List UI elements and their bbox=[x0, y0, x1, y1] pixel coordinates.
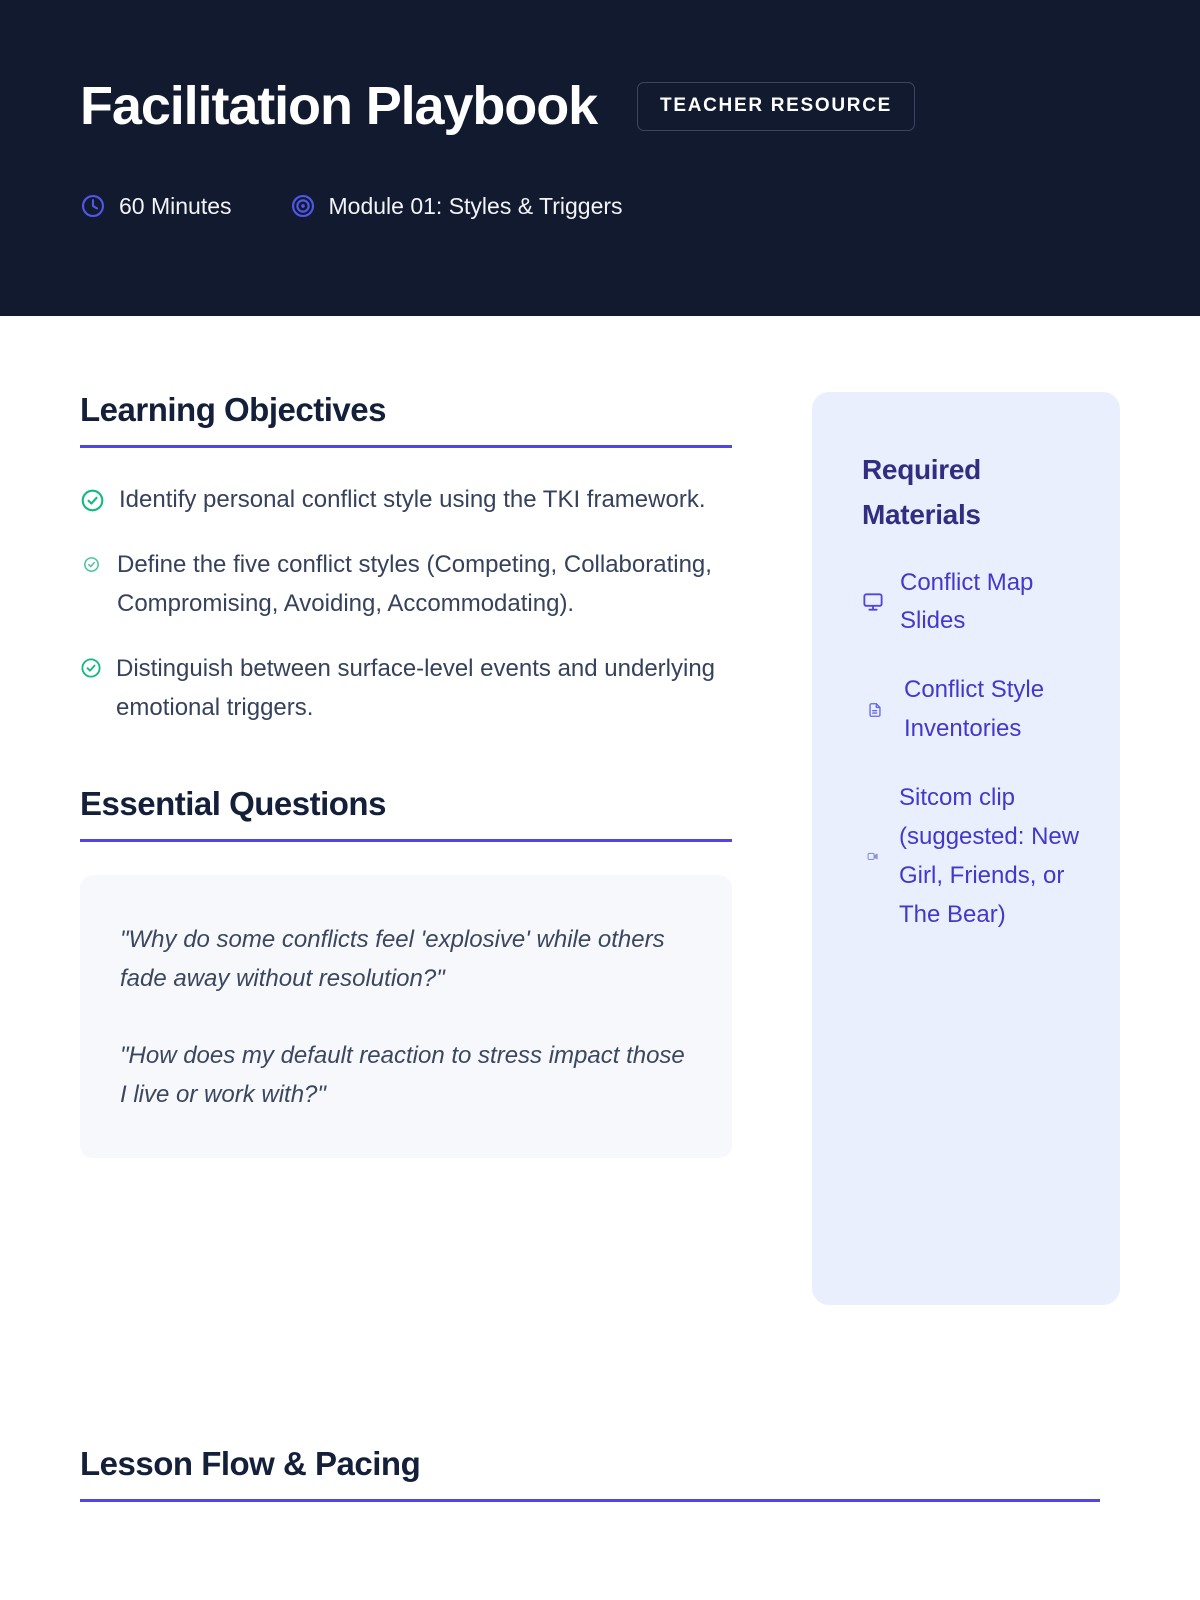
target-icon bbox=[290, 193, 316, 219]
question-quote: "How does my default reaction to stress … bbox=[120, 1037, 692, 1115]
meta-item-module: Module 01: Styles & Triggers bbox=[290, 193, 623, 220]
essential-questions-section: Essential Questions "Why do some conflic… bbox=[80, 786, 732, 1159]
header-meta-row: 60 Minutes Module 01: Styles & Triggers bbox=[80, 193, 1120, 220]
check-circle-icon bbox=[80, 488, 105, 513]
check-circle-icon bbox=[80, 657, 102, 679]
duration-label: 60 Minutes bbox=[119, 193, 232, 220]
page-header: Facilitation Playbook TEACHER RESOURCE 6… bbox=[0, 0, 1200, 316]
list-item: Conflict Style Inventories bbox=[862, 671, 1088, 749]
monitor-icon bbox=[862, 591, 884, 613]
list-item: Sitcom clip (suggested: New Girl, Friend… bbox=[862, 779, 1088, 935]
required-materials-heading: Required Materials bbox=[862, 448, 1088, 538]
objectives-list: Identify personal conflict style using t… bbox=[80, 481, 732, 727]
materials-list: Conflict Map Slides Conflict Style Inven… bbox=[862, 564, 1088, 935]
section-divider bbox=[80, 445, 732, 448]
clock-icon bbox=[80, 193, 106, 219]
objective-text: Identify personal conflict style using t… bbox=[119, 481, 706, 520]
learning-objectives-section: Learning Objectives Identify personal co… bbox=[80, 392, 732, 728]
document-icon bbox=[867, 702, 883, 718]
lesson-flow-heading: Lesson Flow & Pacing bbox=[80, 1446, 1100, 1482]
section-divider bbox=[80, 1499, 1100, 1502]
video-clip-icon bbox=[867, 851, 878, 862]
objective-text: Define the five conflict styles (Competi… bbox=[117, 546, 732, 624]
question-quote: "Why do some conflicts feel 'explosive' … bbox=[120, 921, 692, 999]
objective-text: Distinguish between surface-level events… bbox=[116, 650, 732, 728]
facilitation-playbook-page: Facilitation Playbook TEACHER RESOURCE 6… bbox=[0, 0, 1200, 1600]
essential-questions-card: "Why do some conflicts feel 'explosive' … bbox=[80, 875, 732, 1159]
meta-item-duration: 60 Minutes bbox=[80, 193, 232, 220]
check-circle-icon bbox=[83, 556, 100, 573]
material-label: Sitcom clip (suggested: New Girl, Friend… bbox=[899, 779, 1088, 935]
section-divider bbox=[80, 839, 732, 842]
page-title: Facilitation Playbook bbox=[80, 78, 597, 135]
essential-questions-heading: Essential Questions bbox=[80, 786, 732, 822]
list-item: Identify personal conflict style using t… bbox=[80, 481, 732, 520]
required-materials-card: Required Materials Conflict Map Slides bbox=[812, 392, 1120, 1305]
teacher-resource-badge: TEACHER RESOURCE bbox=[637, 82, 915, 131]
material-label: Conflict Map Slides bbox=[900, 564, 1088, 642]
learning-objectives-heading: Learning Objectives bbox=[80, 392, 732, 428]
page-body: Learning Objectives Identify personal co… bbox=[0, 316, 1200, 1600]
material-label: Conflict Style Inventories bbox=[904, 671, 1088, 749]
list-item: Define the five conflict styles (Competi… bbox=[80, 546, 732, 624]
main-column: Learning Objectives Identify personal co… bbox=[80, 392, 732, 1158]
list-item: Conflict Map Slides bbox=[862, 564, 1088, 642]
list-item: Distinguish between surface-level events… bbox=[80, 650, 732, 728]
header-top-row: Facilitation Playbook TEACHER RESOURCE bbox=[80, 78, 1120, 135]
lesson-flow-section: Lesson Flow & Pacing bbox=[80, 1446, 1100, 1502]
module-label: Module 01: Styles & Triggers bbox=[329, 193, 623, 220]
